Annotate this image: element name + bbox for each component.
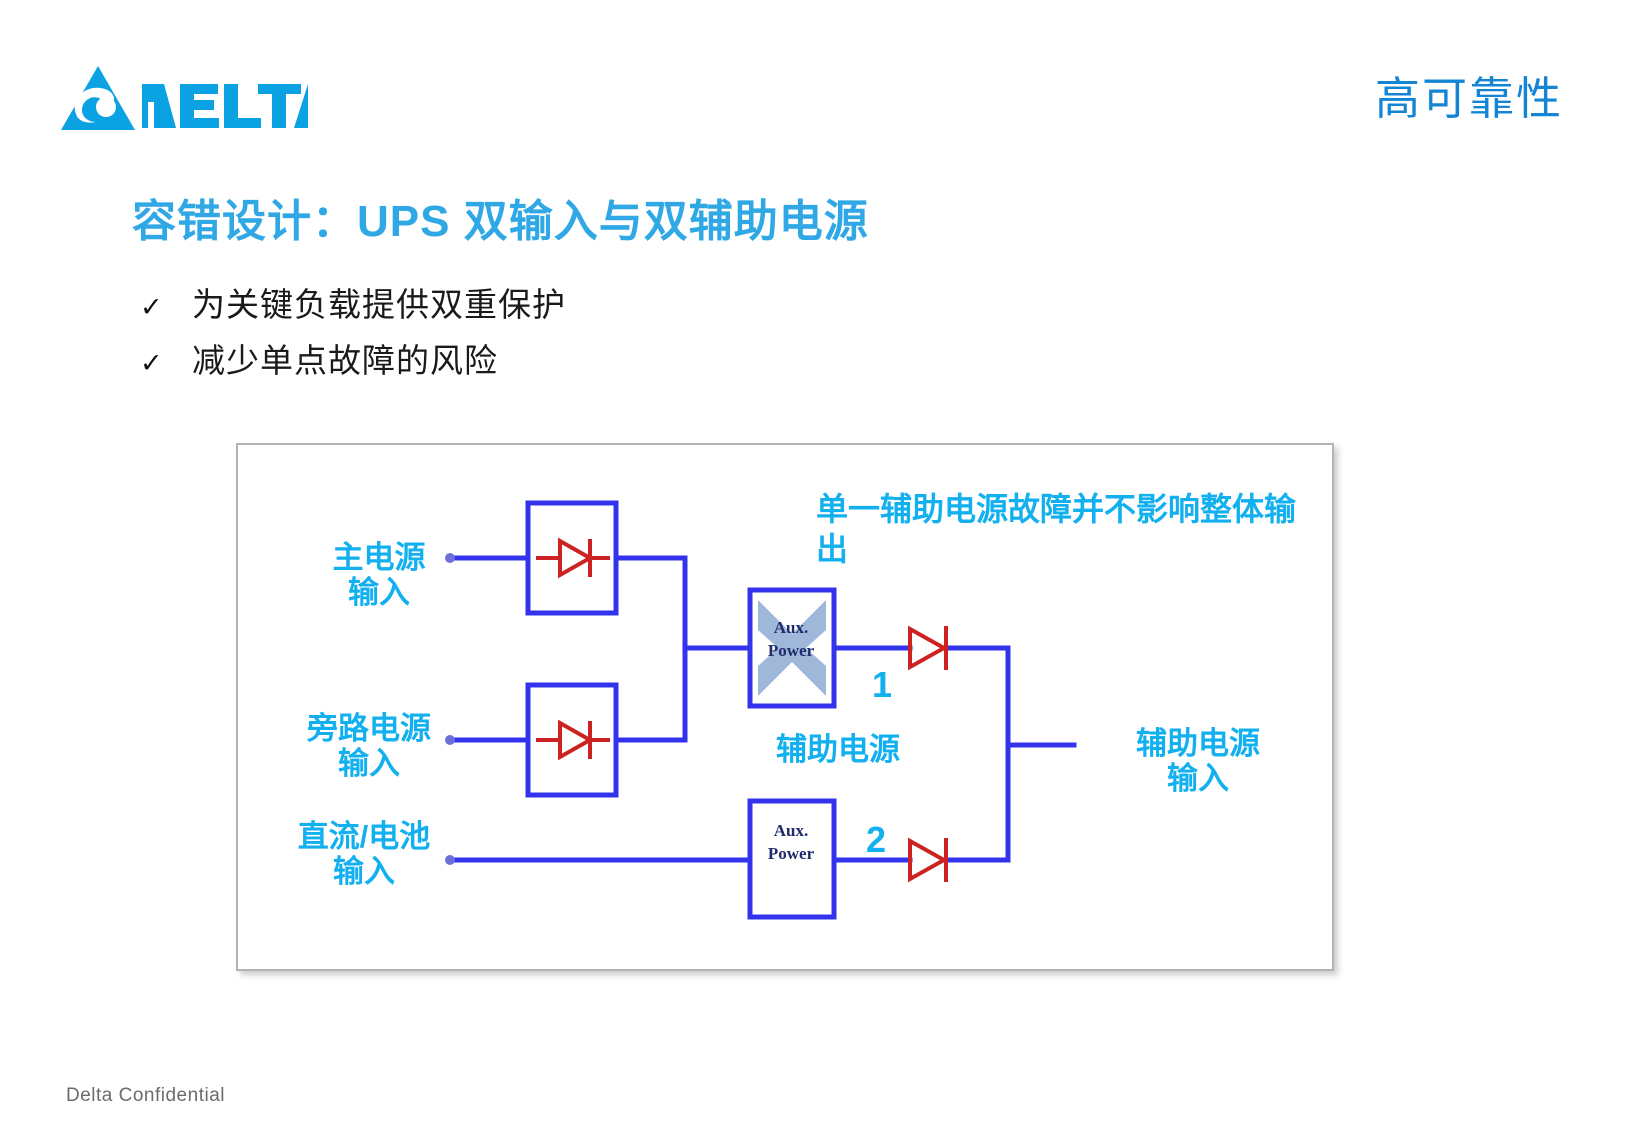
bullet-text: 为关键负载提供双重保护 [192,285,566,325]
delta-wordmark [142,84,308,128]
output-diode-1 [910,626,946,670]
aux-power-box-2-label: Aux. Power [754,820,828,866]
delta-logo-svg [58,62,308,134]
circuit-diagram: 主电源 输入 旁路电源 输入 直流/电池 输入 单一辅助电源故障并不影响整体输出… [236,443,1334,971]
delta-triangle-icon [61,66,135,130]
bullet-list: ✓ 为关键负载提供双重保护 ✓ 减少单点故障的风险 [140,285,1040,396]
list-item: ✓ 为关键负载提供双重保护 [140,285,1040,325]
label-bypass-input: 旁路电源 输入 [264,712,474,781]
diode-box-main [528,503,616,613]
delta-logo [58,62,308,134]
label-aux-power-output: 辅助电源 输入 [1068,727,1328,796]
check-icon: ✓ [140,292,192,323]
label-main-power-input: 主电源 输入 [284,541,474,610]
output-diode-2 [910,838,946,882]
header-right-title: 高可靠性 [1375,62,1563,127]
label-diode-number-2: 2 [866,820,886,860]
delta-dot-icon [96,97,116,117]
bullet-text: 减少单点故障的风险 [192,341,498,381]
label-diode-number-1: 1 [872,665,892,705]
label-annotation: 单一辅助电源故障并不影响整体输出 [816,489,1316,569]
label-aux-power-middle: 辅助电源 [728,733,948,768]
label-dc-battery-input: 直流/电池 输入 [254,820,474,889]
page-title: 容错设计：UPS 双输入与双辅助电源 [132,185,869,249]
footer-confidential: Delta Confidential [66,1085,225,1107]
diode-box-bypass [528,685,616,795]
aux-power-box-1-label: Aux. Power [754,617,828,663]
check-icon: ✓ [140,348,192,379]
list-item: ✓ 减少单点故障的风险 [140,341,1040,381]
